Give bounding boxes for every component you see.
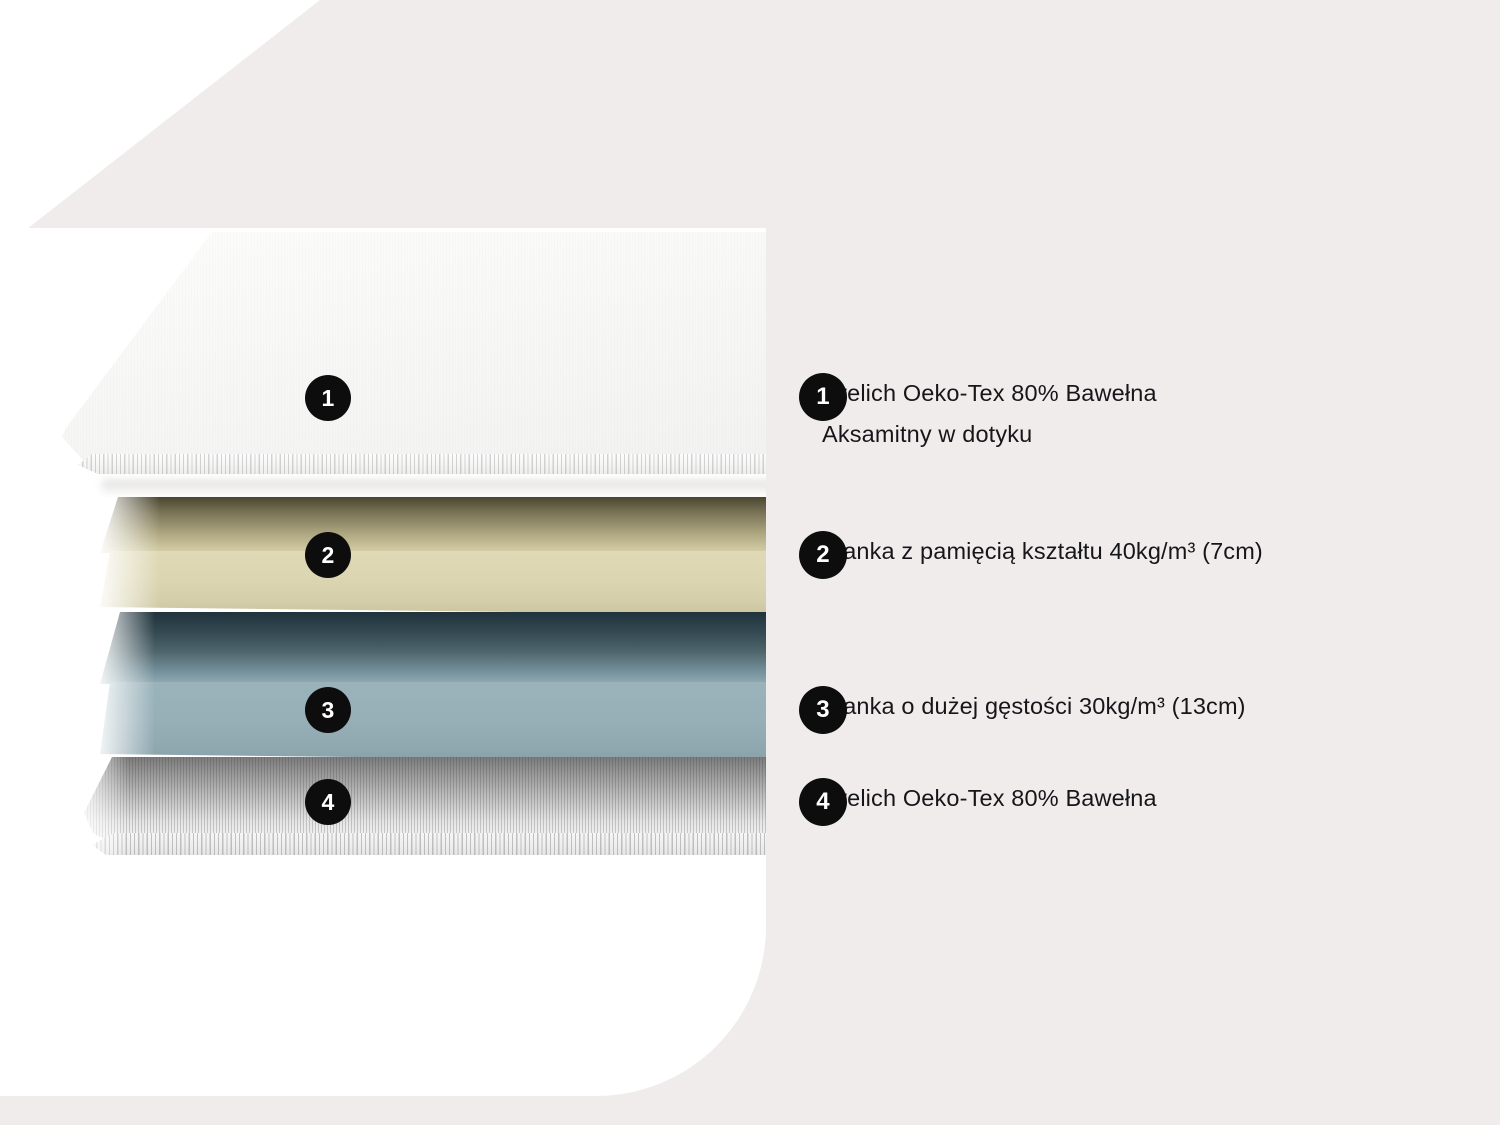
layer-4-left-fade	[84, 757, 129, 862]
mattress-layer-2-memory-foam	[100, 497, 768, 615]
legend-label-3: Pianka o dużej gęstości 30kg/m³ (13cm)	[822, 686, 1246, 727]
legend-badge-4: 4	[799, 778, 847, 826]
layer-2-top-bevel	[100, 497, 768, 553]
layer-4-stitched-seam	[92, 833, 768, 855]
layer-3-front-face	[100, 682, 768, 762]
layer-badge-1: 1	[305, 375, 351, 421]
layer-badge-3: 3	[305, 687, 351, 733]
legend-badge-2: 2	[799, 531, 847, 579]
legend-badge-3: 3	[799, 686, 847, 734]
layer-2-front-face	[100, 551, 768, 615]
mattress-layer-4-base-fabric	[84, 757, 768, 862]
layer-badge-2: 2	[305, 532, 351, 578]
mattress-layer-3-high-density-foam	[100, 612, 768, 762]
mattress-layer-stack	[0, 0, 766, 1125]
legend-label-1: Drelich Oeko-Tex 80% Bawełna Aksamitny w…	[822, 373, 1157, 455]
legend-label-2: Pianka z pamięcią kształtu 40kg/m³ (7cm)	[822, 531, 1263, 572]
legend-label-4: Drelich Oeko-Tex 80% Bawełna	[822, 778, 1157, 819]
legend-list: 1 Drelich Oeko-Tex 80% Bawełna Aksamitny…	[799, 0, 1459, 1125]
mattress-layer-1-cover	[62, 232, 768, 494]
layer-badge-4: 4	[305, 779, 351, 825]
layer-3-top-bevel	[100, 612, 768, 684]
layer-3-left-fade	[100, 612, 155, 762]
legend-item-1: 1 Drelich Oeko-Tex 80% Bawełna Aksamitny…	[799, 373, 1157, 455]
legend-badge-1: 1	[799, 373, 847, 421]
layer-1-drop-shadow	[102, 480, 782, 496]
layer-4-front-face	[84, 757, 768, 839]
product-layer-infographic: 1 2 3 4 1 Drelich Oeko-Tex 80% Bawełna A…	[0, 0, 1500, 1125]
layer-1-stitched-seam	[78, 454, 768, 476]
layer-2-left-fade	[100, 497, 160, 615]
legend-item-4: 4 Drelich Oeko-Tex 80% Bawełna	[799, 778, 1157, 819]
legend-item-3: 3 Pianka o dużej gęstości 30kg/m³ (13cm)	[799, 686, 1246, 727]
legend-item-2: 2 Pianka z pamięcią kształtu 40kg/m³ (7c…	[799, 531, 1263, 572]
